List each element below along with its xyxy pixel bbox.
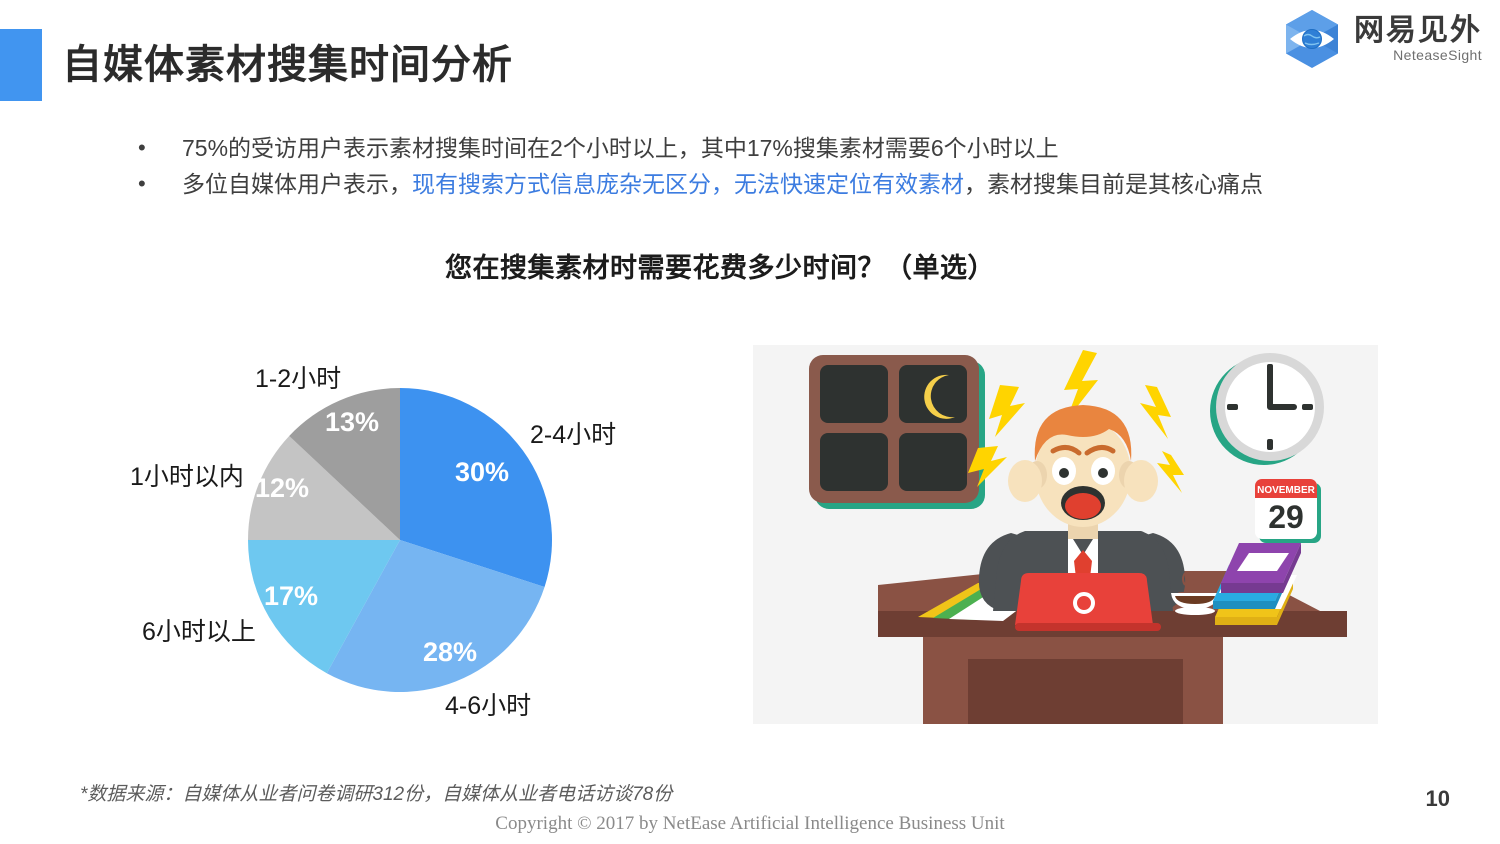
pie-category-label-3: 1小时以内 bbox=[130, 457, 244, 493]
pie-category-label-1: 4-6小时 bbox=[445, 686, 531, 722]
logo-chinese-name: 网易见外 bbox=[1354, 15, 1482, 47]
copyright-text: Copyright © 2017 by NetEase Artificial I… bbox=[0, 813, 1500, 835]
list-item: • 75%的受访用户表示素材搜集时间在2个小时以上，其中17%搜集素材需要6个小… bbox=[130, 131, 1380, 165]
logo-english-name: NeteaseSight bbox=[1393, 47, 1482, 63]
calendar-icon: NOVEMBER 29 bbox=[1255, 479, 1321, 543]
pie-value-label-1: 28% bbox=[423, 637, 477, 668]
pie-category-label-0: 2-4小时 bbox=[530, 415, 616, 451]
bullet-marker-icon: • bbox=[130, 131, 182, 165]
bullet-segment: 75%的受访用户表示素材搜集时间在2个小时以上，其中17%搜集素材需要6个小时以… bbox=[182, 135, 1059, 161]
brand-logo: 网易见外 NeteaseSight bbox=[1280, 8, 1482, 70]
pie-chart: 30% 28% 17% 12% 13% 2-4小时 4-6小时 6小时以上 1小… bbox=[100, 345, 700, 735]
bullet-marker-icon: • bbox=[130, 167, 182, 201]
bullet-list: • 75%的受访用户表示素材搜集时间在2个小时以上，其中17%搜集素材需要6个小… bbox=[130, 131, 1380, 203]
laptop-icon bbox=[1015, 573, 1161, 631]
bullet-text: 多位自媒体用户表示，现有搜索方式信息庞杂无区分，无法快速定位有效素材，素材搜集目… bbox=[182, 167, 1263, 201]
chart-title: 您在搜集素材时需要花费多少时间？（单选） bbox=[0, 246, 1440, 285]
page-title: 自媒体素材搜集时间分析 bbox=[62, 32, 513, 90]
title-accent-bar bbox=[0, 29, 42, 101]
pie-value-label-3: 12% bbox=[255, 473, 309, 504]
illustration-panel: NOVEMBER 29 bbox=[753, 345, 1378, 724]
pie-value-label-4: 13% bbox=[325, 407, 379, 438]
bullet-segment-highlight: 现有搜索方式信息庞杂无区分，无法快速定位有效素材 bbox=[412, 171, 964, 197]
pie-chart-svg bbox=[100, 345, 700, 735]
calendar-month-text: NOVEMBER bbox=[1257, 485, 1316, 496]
pie-category-label-4: 1-2小时 bbox=[255, 359, 341, 395]
data-source-note: *数据来源：自媒体从业者问卷调研312份，自媒体从业者电话访谈78份 bbox=[80, 779, 672, 806]
pie-slice-group bbox=[248, 388, 552, 692]
page-number: 10 bbox=[1426, 786, 1450, 812]
slide-root: 自媒体素材搜集时间分析 网易见外 NeteaseSight • 75%的受访用户… bbox=[0, 0, 1500, 844]
logo-text-block: 网易见外 NeteaseSight bbox=[1354, 15, 1482, 64]
window-with-moon-icon bbox=[809, 355, 985, 509]
pie-category-label-2: 6小时以上 bbox=[142, 612, 256, 648]
stressed-worker-illustration: NOVEMBER 29 bbox=[753, 345, 1378, 724]
bullet-segment: 多位自媒体用户表示， bbox=[182, 171, 412, 197]
bullet-text: 75%的受访用户表示素材搜集时间在2个小时以上，其中17%搜集素材需要6个小时以… bbox=[182, 131, 1059, 165]
pie-value-label-0: 30% bbox=[455, 457, 509, 488]
list-item: • 多位自媒体用户表示，现有搜索方式信息庞杂无区分，无法快速定位有效素材，素材搜… bbox=[130, 167, 1380, 201]
pie-value-label-2: 17% bbox=[264, 581, 318, 612]
calendar-day-text: 29 bbox=[1268, 499, 1304, 535]
netease-sight-logo-icon bbox=[1280, 8, 1344, 70]
bullet-segment: ，素材搜集目前是其核心痛点 bbox=[964, 171, 1263, 197]
